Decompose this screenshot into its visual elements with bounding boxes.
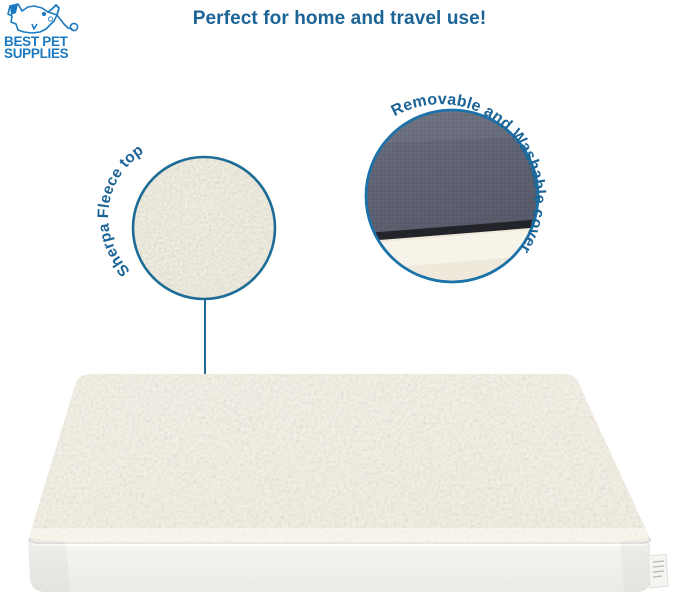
brand-name-line2: SUPPLIES <box>4 46 69 60</box>
bed-top-surface <box>20 366 670 552</box>
washable-cover-swatch <box>354 100 556 294</box>
sherpa-fleece-swatch <box>124 148 284 308</box>
page-title: Perfect for home and travel use! <box>0 8 679 30</box>
product-pet-bed <box>0 352 679 607</box>
callout-removable-washable-cover: Removable and Washable cover <box>340 74 580 314</box>
callout-sherpa-fleece-top: Sherpa Fleece top <box>104 116 304 316</box>
product-tag <box>648 554 668 588</box>
